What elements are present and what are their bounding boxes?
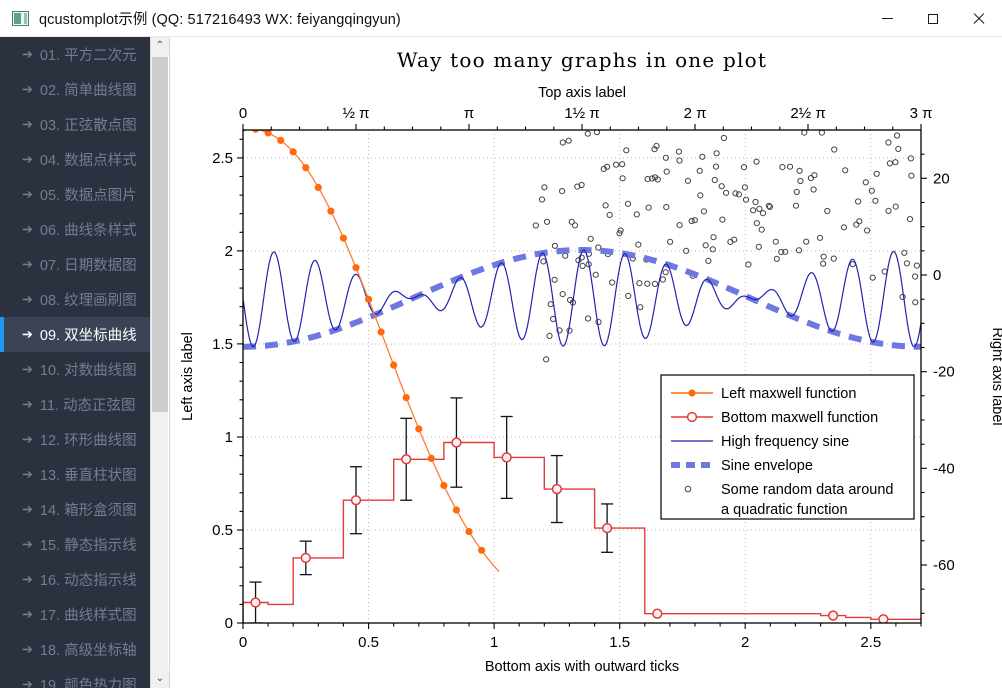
left-tick-label: 1 <box>225 429 233 446</box>
legend-marker-dot <box>688 389 695 396</box>
window-controls <box>864 0 1002 37</box>
left-tick-label: 2.5 <box>212 150 233 167</box>
sidebar-item-label: 11. 动态正弦图 <box>40 394 136 415</box>
sidebar-item-16[interactable]: ➔16. 动态指示线 <box>0 562 168 597</box>
bottom-tick-label: 2 <box>741 634 749 651</box>
close-button[interactable] <box>956 0 1002 37</box>
series-high-frequency-sine <box>243 250 921 347</box>
right-axis[interactable]: 200-20-40-60Right axis label <box>921 154 1002 613</box>
top-tick-label: 1½ π <box>564 105 599 122</box>
sidebar-item-label: 04. 数据点样式 <box>40 149 137 170</box>
legend-label: a quadratic function <box>721 502 848 518</box>
sidebar-item-label: 08. 纹理画刷图 <box>40 289 137 310</box>
sidebar-item-18[interactable]: ➔18. 高级坐标轴 <box>0 632 168 667</box>
plot-series-area <box>239 125 921 624</box>
sidebar-item-1[interactable]: ➔01. 平方二次元 <box>0 37 168 72</box>
arrow-right-icon: ➔ <box>22 118 33 131</box>
top-axis-label: Top axis label <box>538 85 626 101</box>
arrow-right-icon: ➔ <box>22 503 33 516</box>
sidebar-item-label: 19. 颜色热力图 <box>40 674 137 688</box>
sidebar-item-19[interactable]: ➔19. 颜色热力图 <box>0 667 168 688</box>
scroll-up-arrow-icon[interactable]: ⌃ <box>151 37 169 55</box>
sidebar-item-label: 15. 静态指示线 <box>40 534 137 555</box>
sidebar-item-13[interactable]: ➔13. 垂直柱状图 <box>0 457 168 492</box>
bottom-tick-label: 1 <box>490 634 498 651</box>
arrow-right-icon: ➔ <box>22 188 33 201</box>
top-tick-label: 0 <box>239 105 247 122</box>
sidebar-item-label: 02. 简单曲线图 <box>40 79 137 100</box>
sidebar-item-9[interactable]: ➔09. 双坐标曲线 <box>0 317 168 352</box>
arrow-right-icon: ➔ <box>22 83 33 96</box>
series-random-scatter <box>533 130 919 362</box>
sidebar-item-label: 07. 日期数据图 <box>40 254 137 275</box>
sidebar-item-label: 13. 垂直柱状图 <box>40 464 137 485</box>
legend-label: High frequency sine <box>721 434 849 450</box>
arrow-right-icon: ➔ <box>22 678 33 688</box>
sidebar-nav: ➔01. 平方二次元➔02. 简单曲线图➔03. 正弦散点图➔04. 数据点样式… <box>0 37 168 688</box>
minimize-icon <box>882 18 893 19</box>
sidebar-item-label: 12. 环形曲线图 <box>40 429 137 450</box>
right-tick-label: 0 <box>933 267 941 284</box>
plot-panel[interactable]: Way too many graphs in one plotTop axis … <box>169 37 1002 688</box>
arrow-right-icon: ➔ <box>22 398 33 411</box>
sidebar-item-6[interactable]: ➔06. 曲线条样式 <box>0 212 168 247</box>
legend-marker-circle <box>688 413 697 422</box>
sidebar-item-label: 18. 高级坐标轴 <box>40 639 137 660</box>
minimize-button[interactable] <box>864 0 910 37</box>
arrow-right-icon: ➔ <box>22 328 33 341</box>
arrow-right-icon: ➔ <box>22 433 33 446</box>
sidebar-item-12[interactable]: ➔12. 环形曲线图 <box>0 422 168 457</box>
bottom-axis-label: Bottom axis with outward ticks <box>485 659 679 675</box>
sidebar-item-label: 01. 平方二次元 <box>40 44 137 65</box>
left-tick-label: 2 <box>225 243 233 260</box>
sidebar-item-label: 03. 正弦散点图 <box>40 114 137 135</box>
right-axis-label: Right axis label <box>989 327 1002 425</box>
top-axis[interactable]: 0½ ππ1½ π2 π2½ π3 π <box>239 105 933 130</box>
arrow-right-icon: ➔ <box>22 468 33 481</box>
bottom-tick-label: 1.5 <box>609 634 630 651</box>
right-tick-label: -40 <box>933 460 955 477</box>
series-sine-envelope <box>243 250 921 347</box>
arrow-right-icon: ➔ <box>22 643 33 656</box>
legend-label: Bottom maxwell function <box>721 410 878 426</box>
scrollbar-thumb[interactable] <box>152 57 168 412</box>
bottom-tick-label: 0 <box>239 634 247 651</box>
chart-title: Way too many graphs in one plot <box>397 48 767 72</box>
left-tick-label: 0 <box>225 615 233 632</box>
top-tick-label: π <box>464 105 474 122</box>
maximize-button[interactable] <box>910 0 956 37</box>
left-axis-label: Left axis label <box>180 332 196 421</box>
sidebar-item-label: 16. 动态指示线 <box>40 569 137 590</box>
right-tick-label: -60 <box>933 557 955 574</box>
sidebar-item-5[interactable]: ➔05. 数据点图片 <box>0 177 168 212</box>
arrow-right-icon: ➔ <box>22 573 33 586</box>
arrow-right-icon: ➔ <box>22 608 33 621</box>
top-tick-label: 3 π <box>910 105 933 122</box>
top-tick-label: 2 π <box>684 105 707 122</box>
left-axis[interactable]: 00.511.522.5Left axis label <box>180 139 243 632</box>
series-left-maxwell <box>239 125 499 572</box>
top-tick-label: ½ π <box>342 105 369 122</box>
legend-label: Some random data around <box>721 482 894 498</box>
qcustomplot-canvas[interactable]: Way too many graphs in one plotTop axis … <box>170 37 1002 688</box>
left-tick-label: 0.5 <box>212 522 233 539</box>
arrow-right-icon: ➔ <box>22 363 33 376</box>
close-icon <box>973 13 985 25</box>
right-tick-label: 20 <box>933 170 950 187</box>
sidebar-item-label: 14. 箱形盒须图 <box>40 499 137 520</box>
sidebar-item-8[interactable]: ➔08. 纹理画刷图 <box>0 282 168 317</box>
bottom-axis[interactable]: 00.511.522.5Bottom axis with outward tic… <box>239 623 921 675</box>
sidebar-item-2[interactable]: ➔02. 简单曲线图 <box>0 72 168 107</box>
sidebar-item-3[interactable]: ➔03. 正弦散点图 <box>0 107 168 142</box>
arrow-right-icon: ➔ <box>22 293 33 306</box>
bottom-tick-label: 2.5 <box>860 634 881 651</box>
right-tick-label: -20 <box>933 364 955 381</box>
sidebar-item-label: 06. 曲线条样式 <box>40 219 137 240</box>
left-tick-label: 1.5 <box>212 336 233 353</box>
arrow-right-icon: ➔ <box>22 258 33 271</box>
sidebar-item-4[interactable]: ➔04. 数据点样式 <box>0 142 168 177</box>
window-title: qcustomplot示例 (QQ: 517216493 WX: feiyang… <box>39 8 401 29</box>
sidebar-item-7[interactable]: ➔07. 日期数据图 <box>0 247 168 282</box>
legend-label: Left maxwell function <box>721 386 856 402</box>
sidebar-item-15[interactable]: ➔15. 静态指示线 <box>0 527 168 562</box>
legend[interactable]: Left maxwell functionBottom maxwell func… <box>661 375 914 519</box>
title-bar: qcustomplot示例 (QQ: 517216493 WX: feiyang… <box>0 0 1002 37</box>
sidebar-item-14[interactable]: ➔14. 箱形盒须图 <box>0 492 168 527</box>
arrow-right-icon: ➔ <box>22 153 33 166</box>
sidebar-item-label: 05. 数据点图片 <box>40 184 137 205</box>
app-window: qcustomplot示例 (QQ: 517216493 WX: feiyang… <box>0 0 1002 688</box>
sidebar-item-17[interactable]: ➔17. 曲线样式图 <box>0 597 168 632</box>
maximize-icon <box>928 14 938 24</box>
top-tick-label: 2½ π <box>790 105 825 122</box>
sidebar-item-label: 17. 曲线样式图 <box>40 604 137 625</box>
arrow-right-icon: ➔ <box>22 48 33 61</box>
sidebar-item-label: 10. 对数曲线图 <box>40 359 137 380</box>
legend-label: Sine envelope <box>721 458 813 474</box>
scroll-down-arrow-icon[interactable]: ⌄ <box>151 670 169 688</box>
sidebar-item-label: 09. 双坐标曲线 <box>40 324 137 345</box>
arrow-right-icon: ➔ <box>22 223 33 236</box>
sidebar-item-10[interactable]: ➔10. 对数曲线图 <box>0 352 168 387</box>
app-logo-icon <box>12 11 29 26</box>
bottom-tick-label: 0.5 <box>358 634 379 651</box>
sidebar-scrollbar[interactable]: ⌃ ⌄ <box>150 37 168 688</box>
arrow-right-icon: ➔ <box>22 538 33 551</box>
sidebar-item-11[interactable]: ➔11. 动态正弦图 <box>0 387 168 422</box>
